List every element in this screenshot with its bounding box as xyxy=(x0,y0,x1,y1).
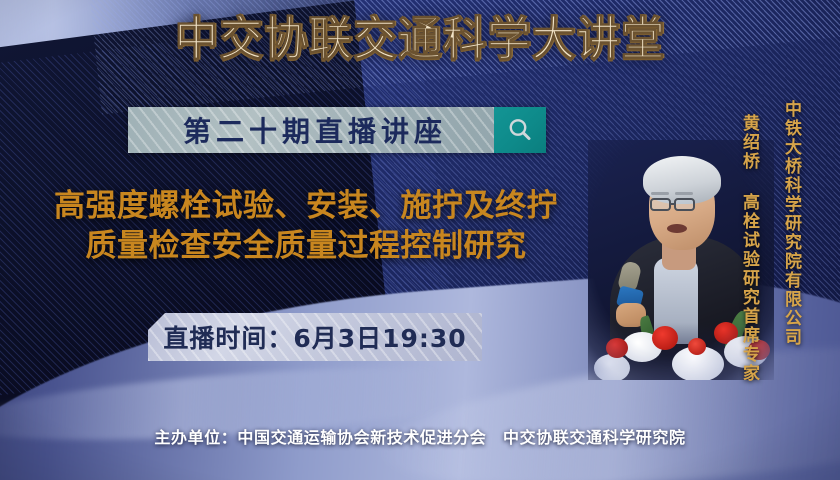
live-broadcast-poster: 中交协联交通科学大讲堂 第二十期直播讲座 高强度螺栓试验、安装、施拧及终拧 质量… xyxy=(0,0,840,480)
broadcast-time-label: 直播时间：6月3日19:30 xyxy=(163,319,466,355)
lecture-topic: 高强度螺栓试验、安装、施拧及终拧 质量检查安全质量过程控制研究 xyxy=(8,186,604,267)
broadcast-time-badge: 直播时间：6月3日19:30 xyxy=(148,313,482,361)
search-icon xyxy=(505,115,535,145)
page-title: 中交协联交通科学大讲堂 xyxy=(29,16,810,63)
organizer-footer: 主办单位：中国交通运输协会新技术促进分会 中交协联交通科学研究院 xyxy=(0,424,840,448)
episode-banner: 第二十期直播讲座 xyxy=(128,107,546,153)
lecture-topic-line1: 高强度螺栓试验、安装、施拧及终拧 xyxy=(54,188,558,224)
search-button[interactable] xyxy=(494,107,546,153)
episode-label: 第二十期直播讲座 xyxy=(128,107,494,153)
lecture-topic-line2: 质量检查安全质量过程控制研究 xyxy=(8,226,604,266)
speaker-name-title: 黄绍桥 高栓试验研究首席专家 xyxy=(740,114,757,383)
speaker-organization: 中铁大桥科学研究院有限公司 xyxy=(782,100,799,347)
